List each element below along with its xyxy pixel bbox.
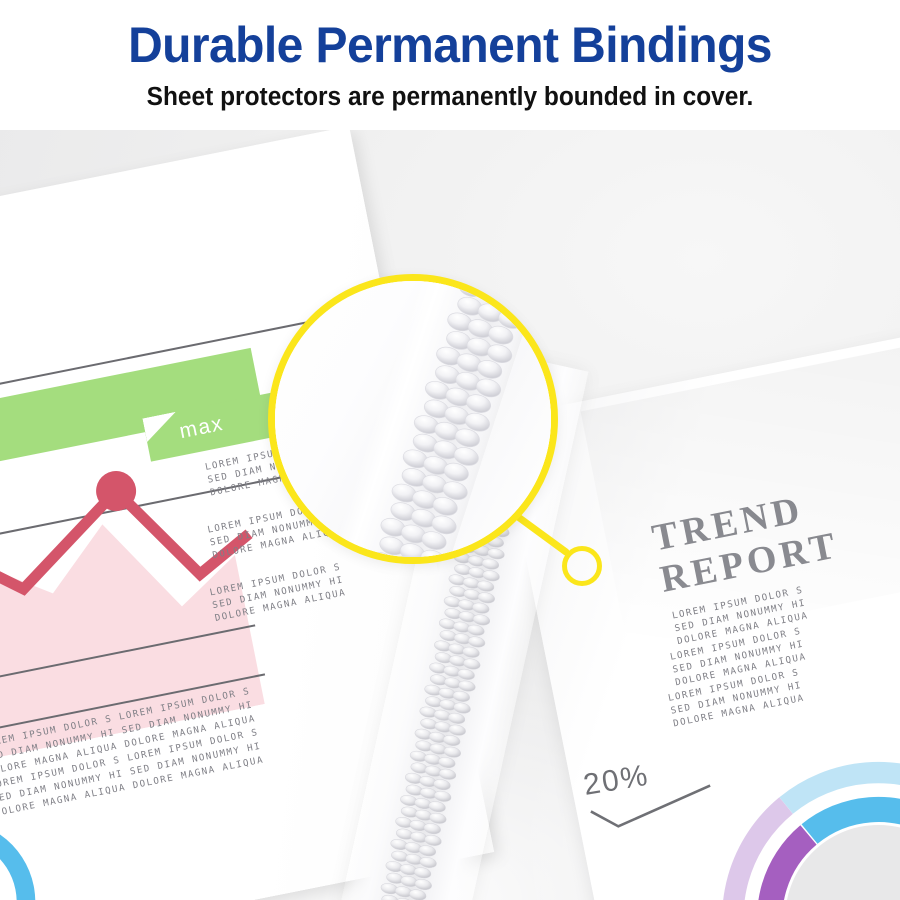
page-title: Durable Permanent Bindings: [18, 0, 882, 70]
poster-stage: lorem ipsum max LOREM IPSUM DOLOR S SED …: [0, 0, 900, 900]
product-photo: lorem ipsum max LOREM IPSUM DOLOR S SED …: [0, 118, 900, 900]
header: Durable Permanent Bindings Sheet protect…: [0, 0, 900, 130]
banner-max-label: max: [177, 412, 225, 444]
donut-segment-blue: [0, 817, 39, 900]
magnifier-target-ring: [562, 546, 602, 586]
binding-closeup-magnifier: [268, 274, 558, 564]
trend-report-title: TREND REPORT: [649, 483, 843, 601]
page-subtitle: Sheet protectors are permanently bounded…: [18, 70, 882, 111]
right-page: TREND REPORT LOREM IPSUM DOLOR S SED DIA…: [498, 281, 900, 900]
